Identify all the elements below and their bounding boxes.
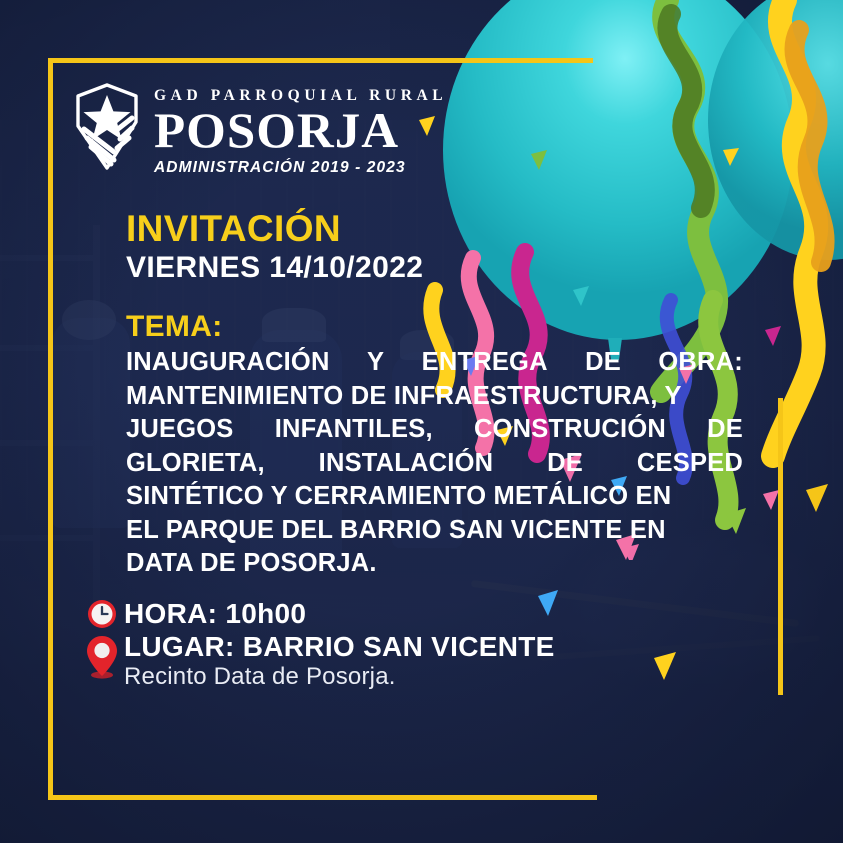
invitation-date: VIERNES 14/10/2022 [126,252,423,284]
tema-label: TEMA: [126,310,743,343]
tema-word: INSTALACIÓN [319,447,494,481]
event-details: HORA: 10h00 LUGAR: BARRIO SAN VICENTE Re… [80,598,680,705]
detail-row-place: LUGAR: BARRIO SAN VICENTE Recinto Data d… [80,631,680,705]
tema-line: MANTENIMIENTO DE INFRAESTRUCTURA, Y [126,380,743,414]
detail-place-sub: Recinto Data de Posorja. [124,663,555,691]
tema-word: DE [707,413,743,447]
shield-star-icon [74,82,140,172]
tema-line: EL PARQUE DEL BARRIO SAN VICENTE EN [126,514,743,548]
detail-place: LUGAR: BARRIO SAN VICENTE [124,631,555,662]
detail-time: HORA: 10h00 [124,598,306,629]
tema-line: INAUGURACIÓNYENTREGADEOBRA: [126,346,743,380]
invitation-title: INVITACIÓN [126,210,423,249]
tema-word: ENTREGA [422,346,548,380]
invitation-heading: INVITACIÓN VIERNES 14/10/2022 [126,210,423,284]
tema-word: GLORIETA, [126,447,265,481]
tema-line: JUEGOSINFANTILES,CONSTRUCIÓNDE [126,413,743,447]
invitation-poster: GAD PARROQUIAL RURAL POSORJA ADMINISTRAC… [0,0,843,843]
tema-word: Y [367,346,384,380]
poster-content: GAD PARROQUIAL RURAL POSORJA ADMINISTRAC… [0,0,843,843]
tema-word: DE [547,447,583,481]
clock-icon [80,599,124,629]
brand-name: POSORJA [154,106,453,155]
tema-line: GLORIETA,INSTALACIÓNDECESPED [126,447,743,481]
tema-word: OBRA: [658,346,743,380]
brand-subtitle: ADMINISTRACIÓN 2019 - 2023 [154,159,447,177]
detail-row-time: HORA: 10h00 [80,598,680,629]
tema-line: DATA DE POSORJA. [126,547,743,581]
brand-lockup: GAD PARROQUIAL RURAL POSORJA ADMINISTRAC… [74,82,447,177]
tema-block: TEMA: INAUGURACIÓNYENTREGADEOBRA:MANTENI… [126,310,743,581]
tema-word: DE [585,346,621,380]
tema-word: CONSTRUCIÓN [474,413,666,447]
tema-word: INAUGURACIÓN [126,346,330,380]
tema-word: JUEGOS [126,413,233,447]
map-pin-icon [80,631,124,705]
tema-line: SINTÉTICO Y CERRAMIENTO METÁLICO EN [126,480,743,514]
tema-word: INFANTILES, [275,413,433,447]
tema-word: CESPED [637,447,743,481]
tema-body: INAUGURACIÓNYENTREGADEOBRA:MANTENIMIENTO… [126,346,743,581]
